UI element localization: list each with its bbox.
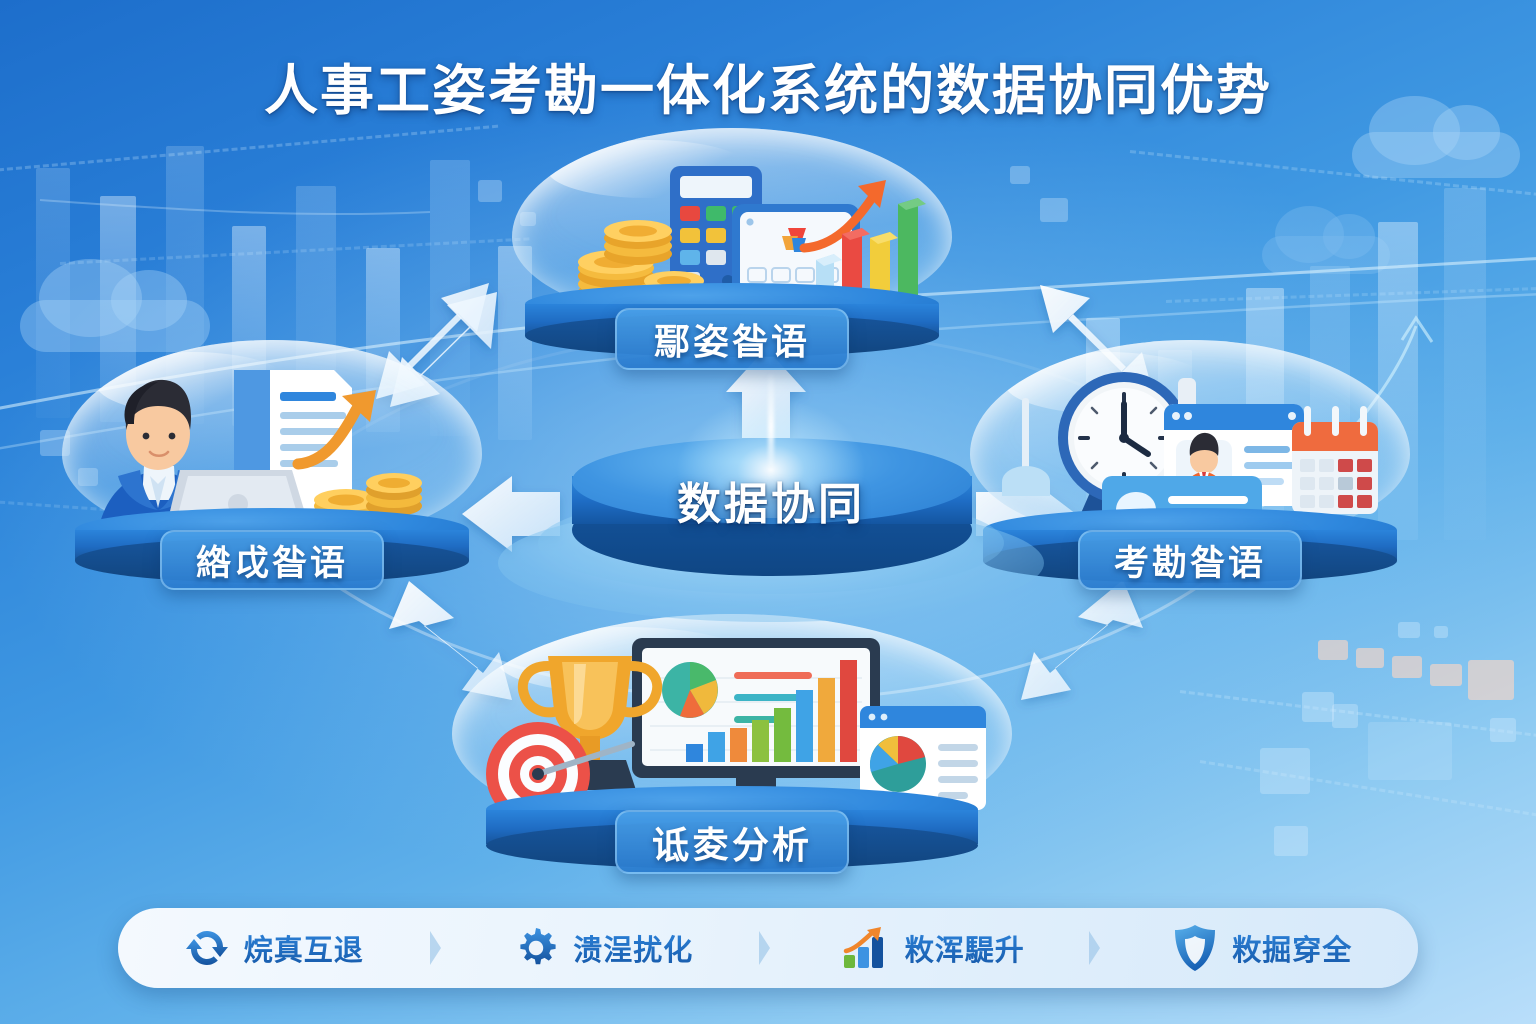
node-analysis[interactable]: 诋夌分析 [452,614,1012,892]
cloud-icon [1262,236,1390,274]
feature-security[interactable]: 敉掘穿全 [1107,908,1419,988]
node-label-analysis[interactable]: 诋夌分析 [615,810,849,874]
feature-separator [430,931,448,965]
node-label-text: 诋夌分析 [652,815,812,869]
feature-standardize[interactable]: 溃浧扰化 [448,908,760,988]
feature-efficiency[interactable]: 敉浑騠升 [777,908,1089,988]
feature-separator [759,931,777,965]
page-title: 人事工姿考勘一体化系统的数据协同优势 [0,46,1536,125]
node-label-attendance[interactable]: 考勘昝语 [1078,530,1302,590]
node-payroll-records[interactable]: 綹戉昝语 [62,340,482,602]
shield-icon [1172,923,1218,973]
sync-icon [184,925,230,971]
gear-icon [513,925,559,971]
feature-label: 溃浧扰化 [573,927,693,969]
node-label-payroll[interactable]: 鄢姿昝语 [615,308,849,370]
node-label-text: 綹戉昝语 [196,535,348,586]
chart-up-icon [841,925,891,971]
feature-label: 烷真互退 [244,927,364,969]
feature-sync[interactable]: 烷真互退 [118,908,430,988]
feature-label: 敉浑騠升 [905,927,1025,969]
feature-bar: 烷真互退 溃浧扰化 [118,908,1418,988]
node-payroll[interactable]: 鄢姿昝语 [512,128,952,378]
node-label-text: 鄢姿昝语 [654,313,810,365]
node-label-text: 考勘昝语 [1114,535,1266,586]
feature-separator [1089,931,1107,965]
infographic-canvas: 人事工姿考勘一体化系统的数据协同优势 [0,0,1536,1024]
hub-label: 数据协同 [498,468,1044,532]
cloud-icon [1352,132,1520,178]
feature-label: 敉掘穿全 [1232,927,1352,969]
node-label-records[interactable]: 綹戉昝语 [160,530,384,590]
data-synergy-hub[interactable]: 数据协同 [498,420,1044,632]
